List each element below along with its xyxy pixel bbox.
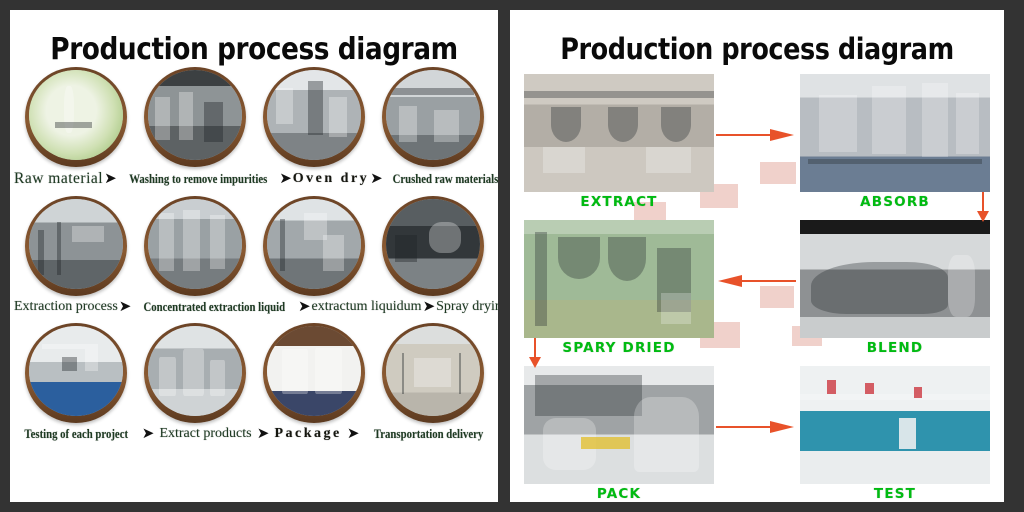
badge-spray-drying[interactable] <box>382 196 484 296</box>
arrow-absorb-to-blend <box>976 192 990 222</box>
arrow-extract-to-absorb <box>716 128 796 142</box>
arrow-spray-to-pack <box>528 338 542 368</box>
badge-transportation[interactable] <box>382 323 484 423</box>
left-row-1-badges <box>10 67 498 167</box>
step-label-extraction-process: Extraction process <box>14 299 118 315</box>
right-process-panel: Production process diagram <box>510 10 1004 502</box>
left-panel-title: Production process diagram <box>39 32 468 67</box>
arrow-pack-to-test <box>716 420 796 434</box>
arrow-icon: ➤ <box>422 300 437 315</box>
extract-photo <box>524 74 714 192</box>
left-row-2-badges <box>10 196 498 296</box>
absorb-photo <box>800 74 990 192</box>
left-row-2-labels: Extraction process ➤ Concentrated extrac… <box>10 299 498 315</box>
left-row-3-badges <box>10 323 498 423</box>
right-row-3: PACK TEST <box>524 366 990 502</box>
extraction-process-photo <box>29 199 123 289</box>
spray-drying-photo <box>386 199 480 289</box>
arrow-icon: ➤ <box>141 427 156 442</box>
step-label-extract-products: Extract products <box>159 426 251 442</box>
testing-project-photo <box>29 326 123 416</box>
step-cell-raw-material: Raw material <box>14 170 103 188</box>
photo-label-absorb: ABSORB <box>800 194 990 210</box>
badge-extract-products[interactable] <box>144 323 246 423</box>
badge-extraction-process[interactable] <box>25 196 127 296</box>
photo-cell-test[interactable]: TEST <box>800 366 990 502</box>
step-label-washing: Washing to remove impurities <box>129 172 267 187</box>
oven-dry-photo <box>267 70 361 160</box>
step-cell-concentrated-liquid: Concentrated extraction liquid <box>132 300 297 315</box>
badge-testing-project[interactable] <box>25 323 127 423</box>
step-cell-extractum-liquidum: extractum liquidum <box>312 299 422 315</box>
badge-oven-dry[interactable] <box>263 67 365 167</box>
panel-divider <box>498 0 510 512</box>
step-label-concentrated-liquid: Concentrated extraction liquid <box>144 300 286 315</box>
test-photo <box>800 366 990 484</box>
right-row-1: EXTRACT ABSORB <box>524 74 990 210</box>
photo-cell-spray-dried[interactable]: SPARY DRIED <box>524 220 714 356</box>
step-cell-transportation: Transportation delivery <box>365 427 492 442</box>
left-row-3: Testing of each project ➤ Extract produc… <box>10 323 498 442</box>
blend-photo <box>800 220 990 338</box>
transportation-photo <box>386 326 480 416</box>
right-panel-title: Production process diagram <box>540 32 975 66</box>
photo-label-extract: EXTRACT <box>524 194 714 210</box>
step-cell-extraction-process: Extraction process <box>14 299 118 315</box>
step-label-raw-material: Raw material <box>14 170 103 188</box>
arrow-icon: ➤ <box>278 172 293 187</box>
step-label-transportation: Transportation delivery <box>374 427 483 442</box>
photo-label-pack: PACK <box>524 486 714 502</box>
step-label-spray-drying: Spray drying <box>436 299 498 315</box>
left-row-3-labels: Testing of each project ➤ Extract produc… <box>10 426 498 442</box>
pack-photo <box>524 366 714 484</box>
left-row-1: Raw material ➤ Washing to remove impurit… <box>10 67 498 188</box>
step-cell-washing: Washing to remove impurities <box>118 172 279 187</box>
left-row-2: Extraction process ➤ Concentrated extrac… <box>10 196 498 315</box>
step-label-crushed-materials: Crushed raw materials <box>392 172 498 187</box>
spray-dried-photo <box>524 220 714 338</box>
step-label-extractum-liquidum: extractum liquidum <box>312 299 422 315</box>
photo-cell-absorb[interactable]: ABSORB <box>800 74 990 210</box>
badge-concentrated-liquid[interactable] <box>144 196 246 296</box>
photo-cell-pack[interactable]: PACK <box>524 366 714 502</box>
arrow-icon: ➤ <box>103 172 118 187</box>
badge-crushed-materials[interactable] <box>382 67 484 167</box>
step-cell-testing-project: Testing of each project <box>16 427 136 442</box>
arrow-icon: ➤ <box>256 427 271 442</box>
washing-photo <box>148 70 242 160</box>
arrow-icon: ➤ <box>346 427 361 442</box>
left-process-panel: Production process diagram <box>10 10 498 502</box>
step-label-oven-dry: Oven dry <box>293 171 369 187</box>
right-row-2: SPARY DRIED BLEND <box>524 220 990 356</box>
arrow-icon: ➤ <box>369 172 384 187</box>
arrow-icon: ➤ <box>118 300 133 315</box>
extract-products-photo <box>148 326 242 416</box>
crushed-materials-photo <box>386 70 480 160</box>
raw-material-photo <box>29 70 123 160</box>
step-cell-extract-products: Extract products <box>159 426 251 442</box>
step-cell-package: Package <box>274 426 341 442</box>
step-cell-spray-drying: Spray drying <box>436 299 498 315</box>
step-label-testing-project: Testing of each project <box>25 427 129 442</box>
badge-raw-material[interactable] <box>25 67 127 167</box>
right-photo-grid: EXTRACT ABSORB <box>524 74 990 502</box>
concentrated-liquid-photo <box>148 199 242 289</box>
arrow-blend-to-spray <box>716 274 796 288</box>
badge-extractum-liquidum[interactable] <box>263 196 365 296</box>
badge-package[interactable] <box>263 323 365 423</box>
left-row-1-labels: Raw material ➤ Washing to remove impurit… <box>10 170 498 188</box>
photo-label-test: TEST <box>800 486 990 502</box>
photo-cell-extract[interactable]: EXTRACT <box>524 74 714 210</box>
step-label-package: Package <box>274 426 341 442</box>
photo-label-spray-dried: SPARY DRIED <box>524 340 714 356</box>
photo-cell-blend[interactable]: BLEND <box>800 220 990 356</box>
photo-label-blend: BLEND <box>800 340 990 356</box>
arrow-icon: ➤ <box>297 300 312 315</box>
infographic-pair: Production process diagram <box>0 0 1024 512</box>
badge-washing[interactable] <box>144 67 246 167</box>
step-cell-oven-dry: Oven dry <box>293 171 369 187</box>
package-photo <box>267 326 361 416</box>
extractum-liquidum-photo <box>267 199 361 289</box>
step-cell-crushed-materials: Crushed raw materials <box>384 172 498 187</box>
